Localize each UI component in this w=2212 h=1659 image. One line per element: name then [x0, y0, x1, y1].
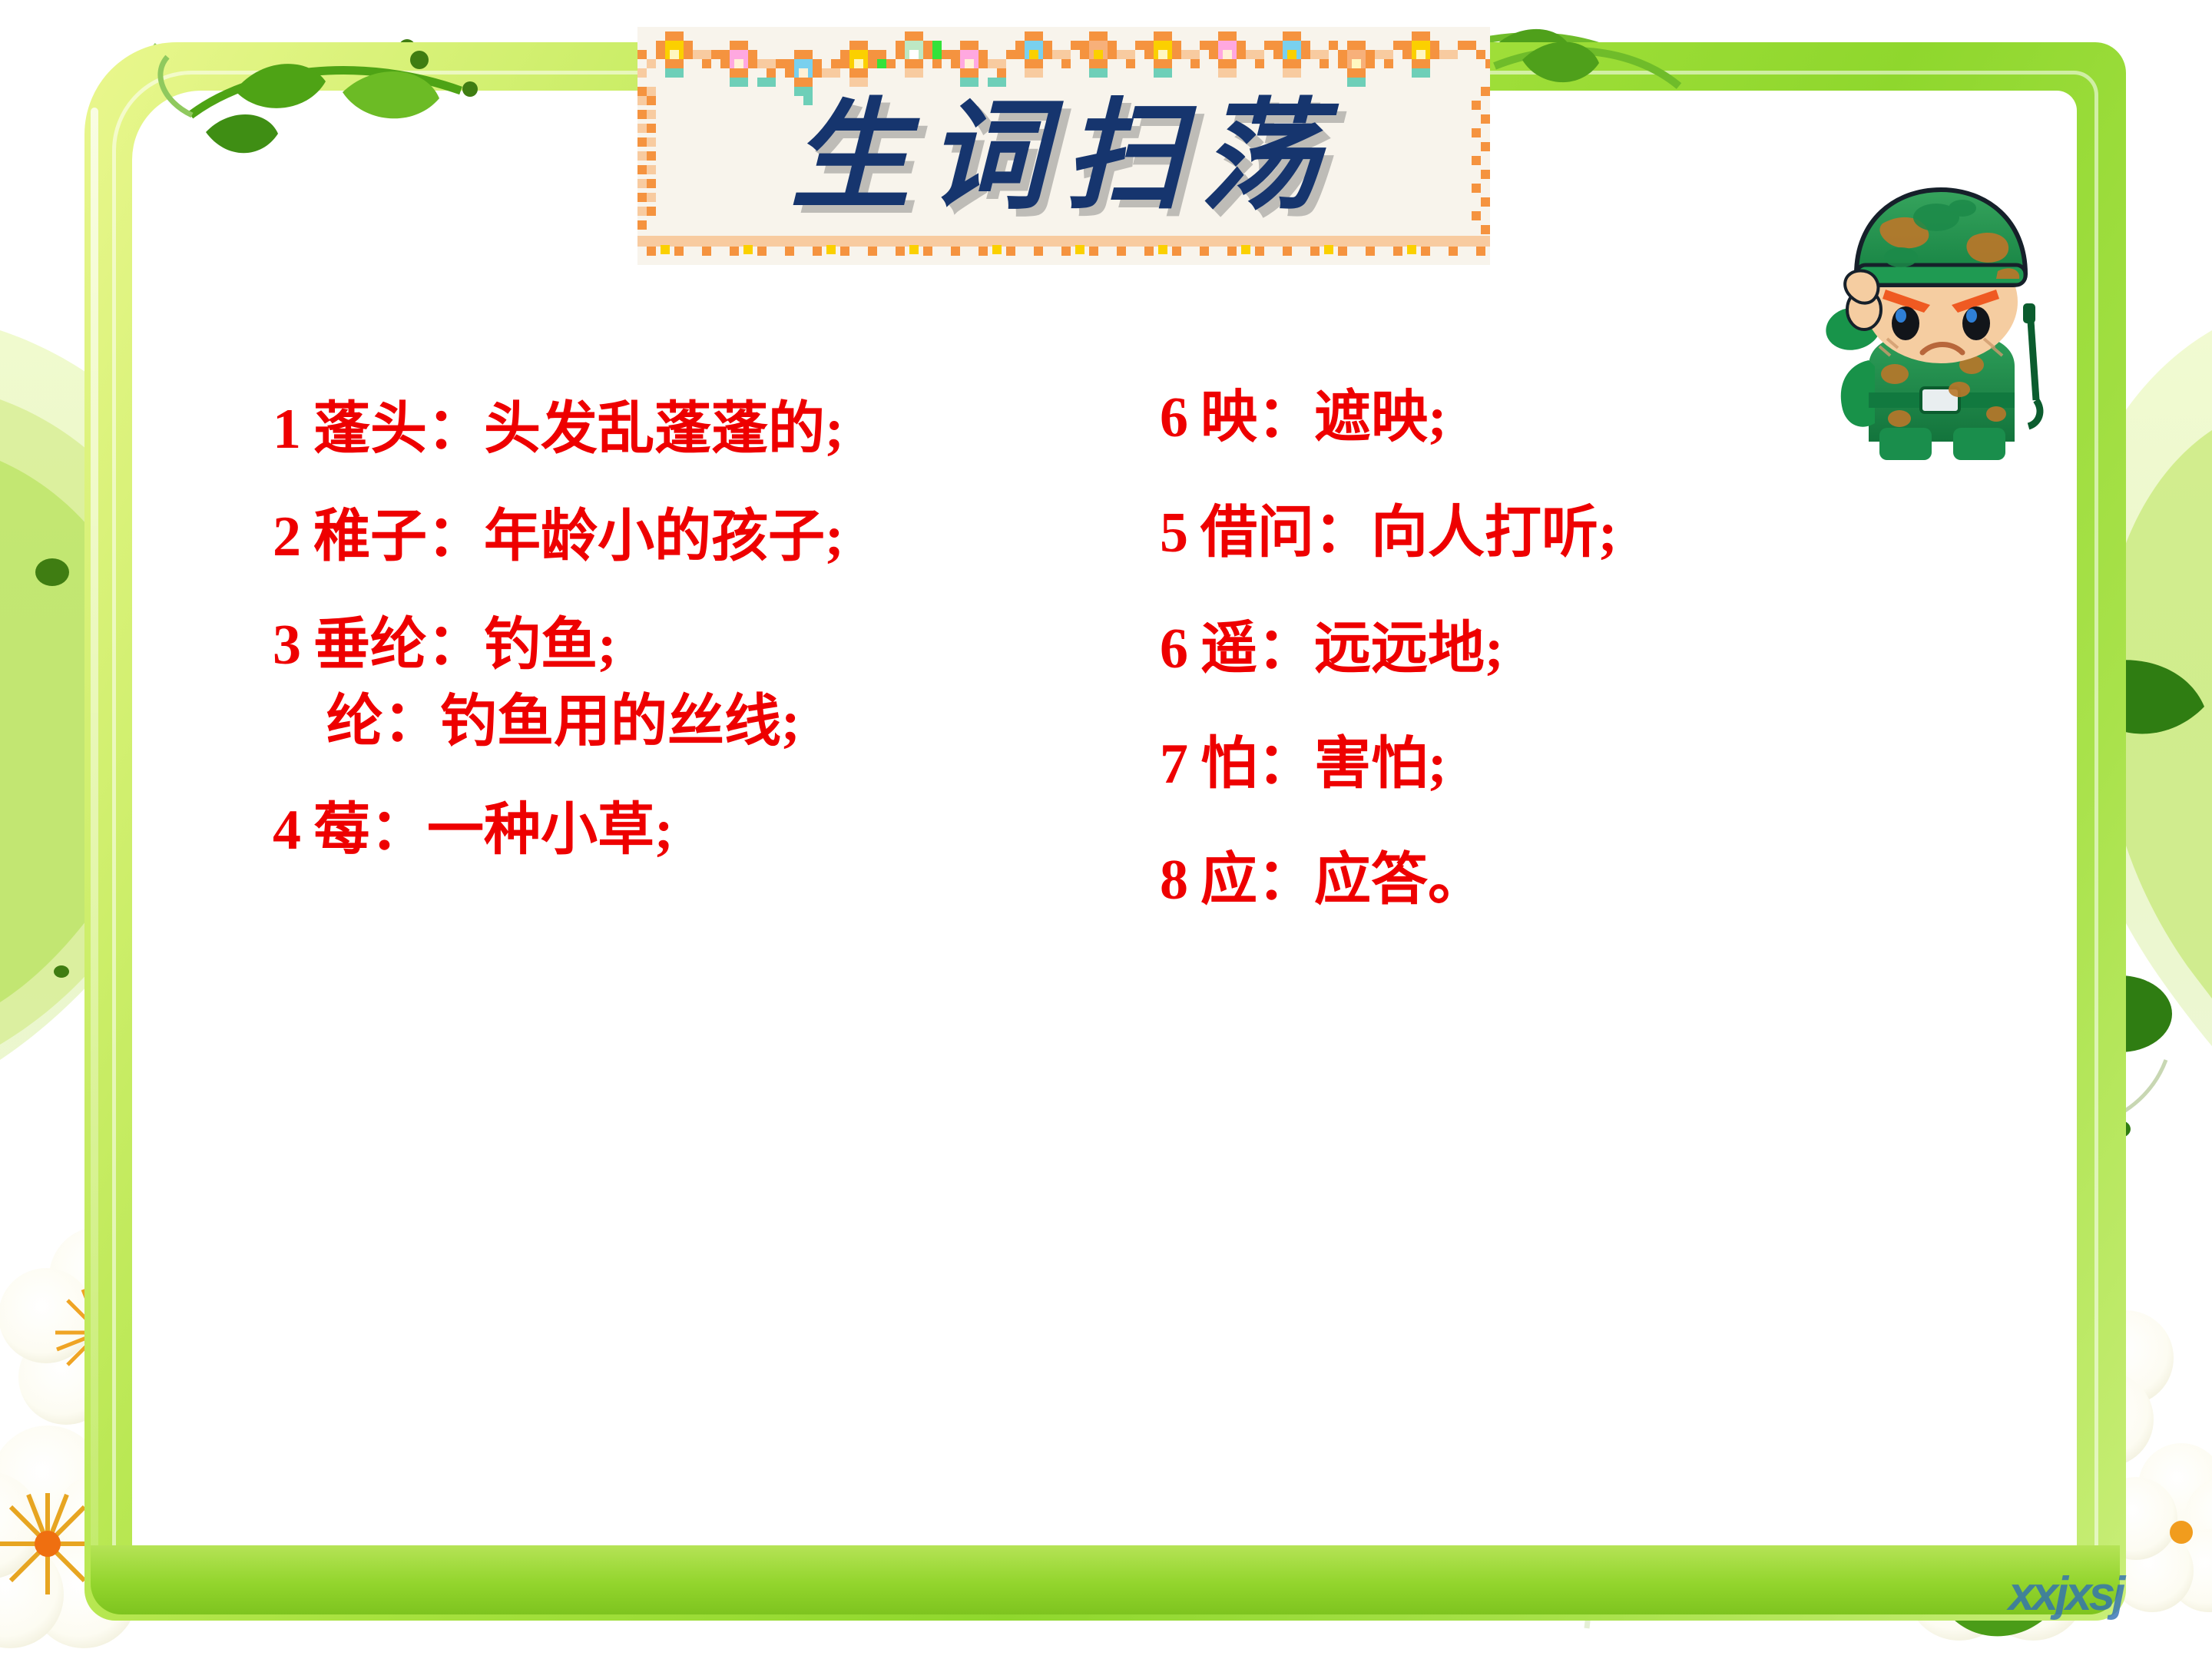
vocabulary-entry: 8应：应答。: [1160, 850, 1912, 910]
entry-text: 应：应答。: [1200, 849, 1485, 912]
entry-number: 6: [1160, 386, 1188, 449]
vocabulary-entry: 4莓：一种小草;: [273, 800, 1118, 860]
entry-number: 3: [273, 614, 301, 677]
entry-text: 稚子：年龄小的孩子;: [313, 505, 844, 568]
vocabulary-entry: 1蓬头：头发乱蓬蓬的;: [273, 399, 1118, 459]
entry-number: 1: [273, 398, 301, 461]
slide-frame-left-highlight: [91, 108, 98, 1567]
slide-canvas: 生词扫荡: [0, 0, 2212, 1659]
vocabulary-entry: 2稚子：年龄小的孩子;: [273, 507, 1118, 567]
vocabulary-entry: 6映：遮映;: [1160, 388, 1912, 448]
entry-text: 垂纶：钓鱼;: [313, 614, 617, 677]
watermark: xxjxsj: [2008, 1567, 2122, 1621]
page-title: 生词扫荡: [637, 98, 1490, 217]
title-banner: 生词扫荡: [637, 27, 1490, 265]
entry-text: 怕：害怕;: [1200, 733, 1447, 796]
entry-number: 6: [1160, 618, 1188, 680]
entry-number: 7: [1160, 733, 1188, 796]
entry-text: 借问：向人打听;: [1200, 502, 1618, 565]
entry-number: 2: [273, 505, 301, 568]
slide-frame-bottom-bar: [91, 1545, 2120, 1614]
entry-text: 遥：远远地;: [1200, 618, 1504, 680]
vocabulary-column-left: 1蓬头：头发乱蓬蓬的; 2稚子：年龄小的孩子; 3垂纶：钓鱼; 纶：钓鱼用的丝线…: [273, 399, 1118, 908]
entry-number: 8: [1160, 849, 1188, 912]
entry-text: 蓬头：头发乱蓬蓬的;: [313, 398, 844, 461]
vocabulary-entry: 3垂纶：钓鱼; 纶：钓鱼用的丝线;: [273, 615, 1118, 753]
entry-number: 5: [1160, 502, 1188, 565]
vocabulary-column-right: 6映：遮映; 5借问：向人打听; 6遥：远远地; 7怕：害怕; 8应：应答。: [1160, 388, 1912, 965]
vocabulary-entry: 6遥：远远地;: [1160, 619, 1912, 679]
entry-text: 映：遮映;: [1200, 386, 1447, 449]
entry-subtext: 纶：钓鱼用的丝线;: [326, 692, 1118, 752]
vocabulary-entry: 5借问：向人打听;: [1160, 503, 1912, 563]
vocabulary-entry: 7怕：害怕;: [1160, 734, 1912, 794]
entry-number: 4: [273, 799, 301, 862]
entry-text: 莓：一种小草;: [313, 799, 674, 862]
